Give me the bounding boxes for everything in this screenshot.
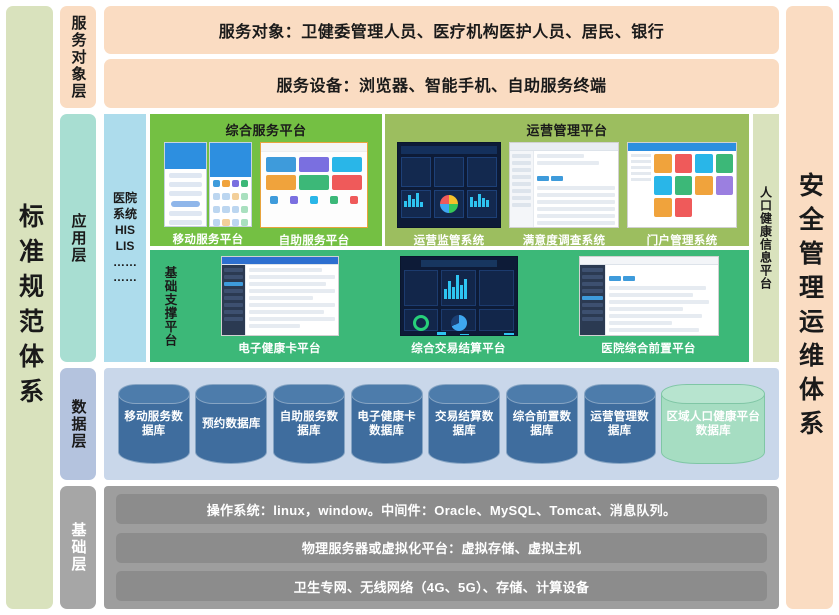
app-tile-mobile-service[interactable]: 移动服务平台 xyxy=(164,142,252,247)
ehealth-card-label: 电子健康卡平台 xyxy=(238,340,321,356)
operation-supervision-label: 运营监管系统 xyxy=(414,232,485,248)
comprehensive-service-platform: 综合服务平台 xyxy=(150,114,382,246)
database-cylinder[interactable]: 交易结算数据库 xyxy=(428,384,500,464)
self-service-screenshot xyxy=(260,142,368,228)
database-label: 预约数据库 xyxy=(199,417,264,431)
portal-management-label: 门户管理系统 xyxy=(647,232,718,248)
population-health-platform-label: 人口健康信息平台 xyxy=(758,186,775,290)
population-health-platform-chip: 人口健康信息平台 xyxy=(753,114,779,362)
infra-bar-servers-virtualization: 物理服务器或虚拟化平台：虚拟存储、虚拟主机 xyxy=(116,533,767,563)
database-label: 交易结算数据库 xyxy=(429,410,499,439)
database-cylinder[interactable]: 自助服务数据库 xyxy=(273,384,345,464)
layer-chip-application-label: 应用层 xyxy=(68,213,89,264)
self-service-label: 自助服务平台 xyxy=(279,232,350,248)
layer-chip-service: 服务对象层 xyxy=(60,6,96,108)
data-layer: 移动服务数据库 预约数据库 自助服务数据库 电子健康卡数据库 交易结算数据库 综… xyxy=(104,368,779,480)
ehealth-card-screenshot xyxy=(221,256,339,336)
standards-framework-label: 标准规范体系 xyxy=(12,203,48,413)
app-tile-self-service[interactable]: 自助服务平台 xyxy=(260,142,368,248)
app-tile-operation-supervision[interactable]: 运营监管系统 xyxy=(397,142,501,248)
security-ops-framework-label: 安全管理运维体系 xyxy=(792,172,828,444)
comprehensive-service-platform-title: 综合服务平台 xyxy=(150,114,382,139)
security-ops-framework-pillar: 安全管理运维体系 xyxy=(786,6,833,609)
layer-chip-infrastructure: 基础层 xyxy=(60,486,96,609)
database-cylinder[interactable]: 电子健康卡数据库 xyxy=(351,384,423,464)
infra-bar-os-middleware: 操作系统：linux，window。中间件：Oracle、MySQL、Tomca… xyxy=(116,494,767,524)
hospital-frontend-screenshot xyxy=(579,256,719,336)
architecture-diagram: 标准规范体系 安全管理运维体系 服务对象层 应用层 数据层 基础层 服务对象：卫… xyxy=(0,0,839,615)
satisfaction-survey-screenshot xyxy=(509,142,619,228)
hospital-systems-line-1: 医院 xyxy=(113,191,137,206)
mobile-service-screenshot xyxy=(164,142,252,227)
app-tile-portal-management[interactable]: 门户管理系统 xyxy=(627,142,737,248)
database-cylinder[interactable]: 预约数据库 xyxy=(195,384,267,464)
base-support-platform-label: 基础支撑平台 xyxy=(161,266,180,347)
layer-chip-data: 数据层 xyxy=(60,368,96,480)
database-label: 综合前置数据库 xyxy=(507,410,577,439)
hospital-systems-line-2: 系统 xyxy=(113,207,137,222)
database-label: 区域人口健康平台数据库 xyxy=(662,410,764,439)
database-label: 移动服务数据库 xyxy=(119,410,189,439)
service-audience-banner: 服务对象：卫健委管理人员、医疗机构医护人员、居民、银行 xyxy=(104,6,779,54)
satisfaction-survey-label: 满意度调查系统 xyxy=(523,232,606,248)
hospital-systems-chip: 医院 系统 HIS LIS …… …… xyxy=(104,114,146,362)
base-support-platform: 基础支撑平台 电子健康卡平台 xyxy=(150,250,749,362)
portal-management-screenshot xyxy=(627,142,737,228)
service-devices-banner: 服务设备：浏览器、智能手机、自助服务终端 xyxy=(104,59,779,108)
app-tile-transaction-settlement[interactable]: 综合交易结算平台 xyxy=(400,256,518,356)
hospital-systems-line-4: LIS xyxy=(116,239,135,254)
transaction-settlement-screenshot xyxy=(400,256,518,336)
base-support-platform-chip: 基础支撑平台 xyxy=(150,250,190,362)
infra-bar-network-storage: 卫生专网、无线网络（4G、5G）、存储、计算设备 xyxy=(116,571,767,601)
database-label: 电子健康卡数据库 xyxy=(352,410,422,439)
database-cylinder-regional[interactable]: 区域人口健康平台数据库 xyxy=(661,384,765,464)
layer-chip-application: 应用层 xyxy=(60,114,96,362)
database-label: 自助服务数据库 xyxy=(274,410,344,439)
app-tile-ehealth-card[interactable]: 电子健康卡平台 xyxy=(221,256,339,356)
hospital-systems-line-5: …… …… xyxy=(104,255,146,285)
hospital-frontend-label: 医院综合前置平台 xyxy=(601,340,695,356)
database-label: 运营管理数据库 xyxy=(585,410,655,439)
app-tile-satisfaction-survey[interactable]: 满意度调查系统 xyxy=(509,142,619,248)
operation-supervision-screenshot xyxy=(397,142,501,228)
operation-management-platform-title: 运营管理平台 xyxy=(385,114,749,139)
operation-management-platform: 运营管理平台 运营监管系统 xyxy=(385,114,749,246)
layer-chip-infrastructure-label: 基础层 xyxy=(68,522,89,573)
database-cylinder[interactable]: 移动服务数据库 xyxy=(118,384,190,464)
layer-chip-data-label: 数据层 xyxy=(68,399,89,450)
mobile-service-label: 移动服务平台 xyxy=(173,231,244,247)
database-cylinder[interactable]: 综合前置数据库 xyxy=(506,384,578,464)
infrastructure-layer: 操作系统：linux，window。中间件：Oracle、MySQL、Tomca… xyxy=(104,486,779,609)
transaction-settlement-label: 综合交易结算平台 xyxy=(411,340,505,356)
standards-framework-pillar: 标准规范体系 xyxy=(6,6,53,609)
application-layer: 医院 系统 HIS LIS …… …… 人口健康信息平台 综合服务平台 xyxy=(104,114,779,362)
layer-chip-service-label: 服务对象层 xyxy=(68,15,89,100)
hospital-systems-line-3: HIS xyxy=(115,223,135,238)
database-cylinder[interactable]: 运营管理数据库 xyxy=(584,384,656,464)
app-tile-hospital-frontend[interactable]: 医院综合前置平台 xyxy=(579,256,719,356)
